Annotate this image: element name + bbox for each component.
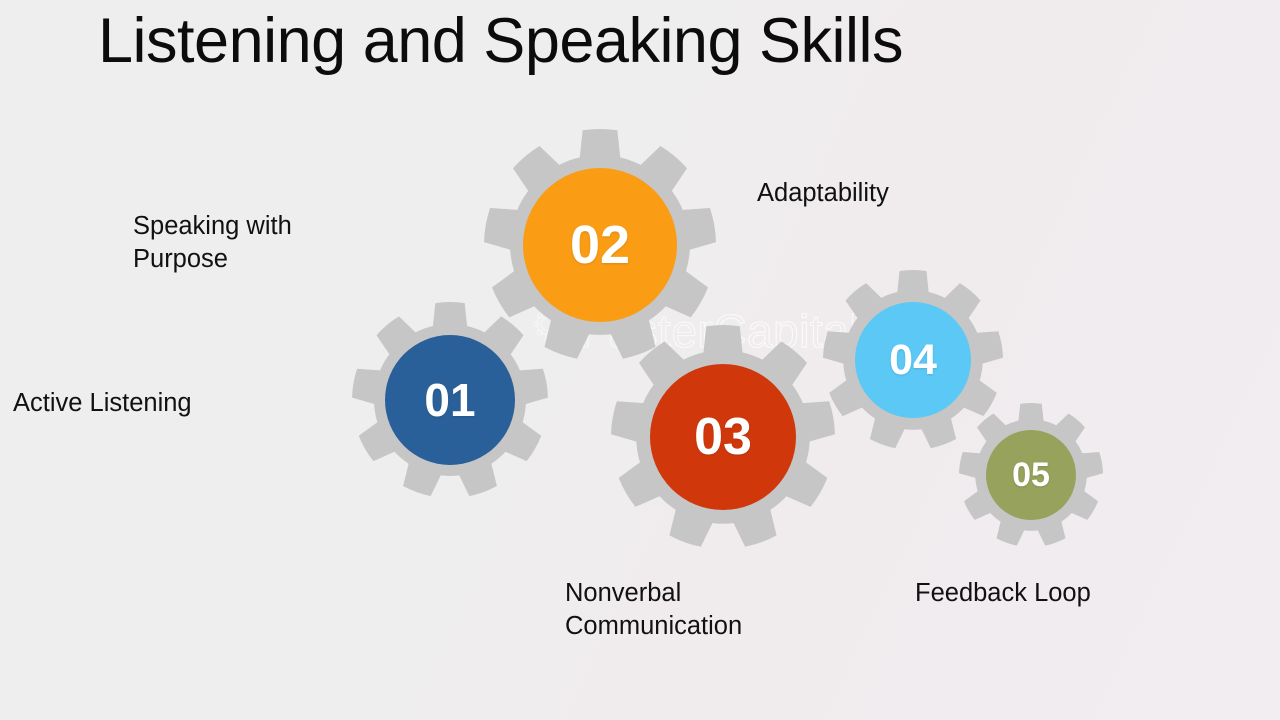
node-label-adaptability: Adaptability [757,177,889,210]
gear-node-05[interactable]: 05 [955,399,1107,551]
node-label-speaking-with-purpose: Speaking with Purpose [133,210,292,276]
page-title: Listening and Speaking Skills [98,2,903,81]
node-label-feedback-loop: Feedback Loop [915,577,1091,610]
slide-canvas: Listening and Speaking Skills [0,0,1280,720]
gear-node-03[interactable]: 03 [607,321,839,553]
node-label-active-listening: Active Listening [13,387,192,420]
node-label-nonverbal-communication: Nonverbal Communication [565,577,742,643]
gear-number-05: 05 [955,399,1107,551]
gear-number-03: 03 [607,321,839,553]
